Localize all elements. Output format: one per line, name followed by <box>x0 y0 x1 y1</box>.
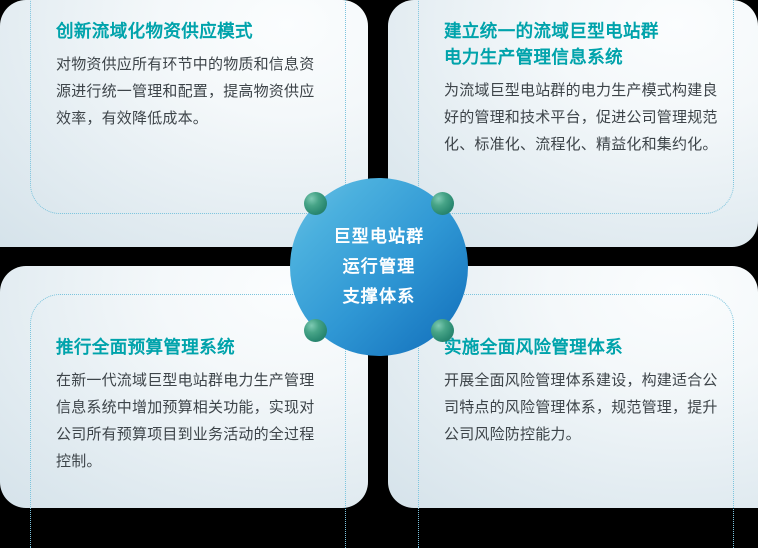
panel-title: 创新流域化物资供应模式 <box>56 18 328 44</box>
panel-content: 建立统一的流域巨型电站群 电力生产管理信息系统 为流域巨型电站群的电力生产模式构… <box>444 18 718 158</box>
connector-node-bottom-right-icon <box>431 319 454 342</box>
diagram-canvas: 创新流域化物资供应模式 对物资供应所有环节中的物质和信息资源进行统一管理和配置，… <box>0 0 758 508</box>
panel-content: 创新流域化物资供应模式 对物资供应所有环节中的物质和信息资源进行统一管理和配置，… <box>56 18 328 132</box>
panel-description: 为流域巨型电站群的电力生产模式构建良好的管理和技术平台，促进公司管理规范化、标准… <box>444 77 718 158</box>
panel-content: 实施全面风险管理体系 开展全面风险管理体系建设，构建适合公司特点的风险管理体系，… <box>444 334 718 448</box>
connector-node-top-right-icon <box>431 192 454 215</box>
panel-title: 实施全面风险管理体系 <box>444 334 718 360</box>
center-hub[interactable]: 巨型电站群 运行管理 支撑体系 <box>290 178 468 356</box>
panel-content: 推行全面预算管理系统 在新一代流域巨型电站群电力生产管理信息系统中增加预算相关功… <box>56 334 328 475</box>
connector-node-bottom-left-icon <box>304 319 327 342</box>
connector-node-top-left-icon <box>304 192 327 215</box>
panel-title: 建立统一的流域巨型电站群 电力生产管理信息系统 <box>444 18 718 70</box>
panel-title: 推行全面预算管理系统 <box>56 334 328 360</box>
panel-description: 开展全面风险管理体系建设，构建适合公司特点的风险管理体系，规范管理，提升公司风险… <box>444 367 718 448</box>
panel-description: 在新一代流域巨型电站群电力生产管理信息系统中增加预算相关功能，实现对公司所有预算… <box>56 367 328 475</box>
panel-description: 对物资供应所有环节中的物质和信息资源进行统一管理和配置，提高物资供应效率，有效降… <box>56 51 328 132</box>
